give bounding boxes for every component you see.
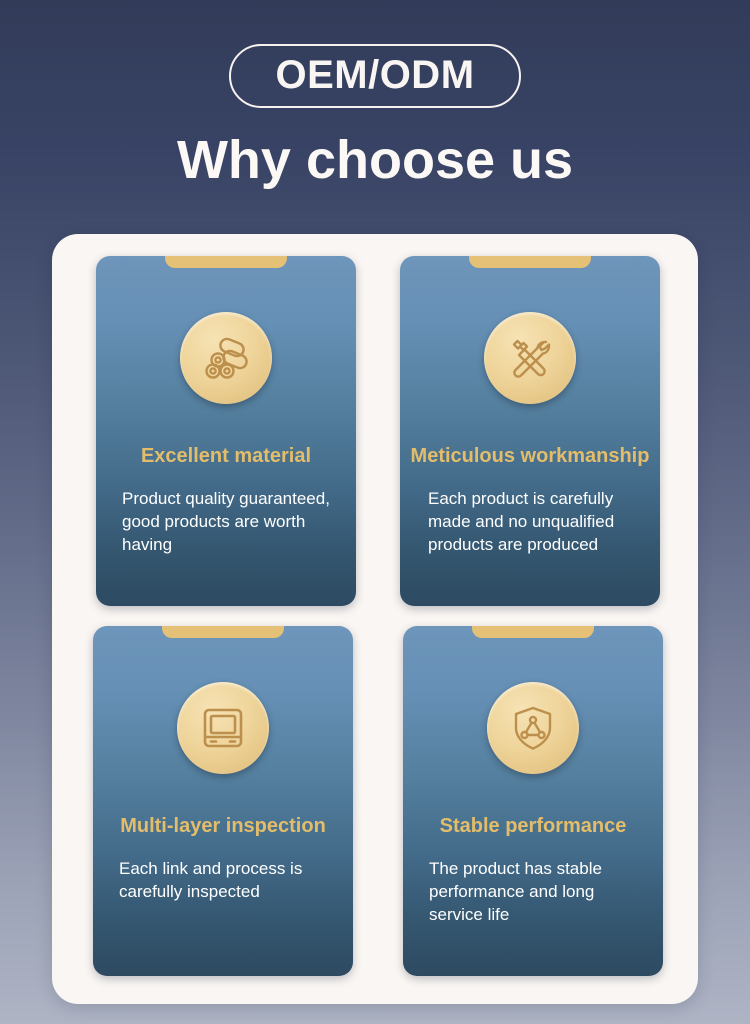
hammer-wrench-icon	[484, 312, 576, 404]
feature-card-meticulous-workmanship[interactable]: Meticulous workmanship Each product is c…	[400, 256, 660, 606]
card-title: Meticulous workmanship	[400, 444, 660, 468]
oem-odm-badge: OEM/ODM	[229, 44, 520, 108]
shield-network-icon	[487, 682, 579, 774]
card-body-text: Product quality guaranteed, good product…	[122, 488, 334, 557]
page-header: OEM/ODM Why choose us	[0, 0, 750, 189]
card-body-text: The product has stable performance and l…	[429, 858, 645, 927]
stacked-rolls-icon	[180, 312, 272, 404]
feature-card-stable-performance[interactable]: Stable performance The product has stabl…	[403, 626, 663, 976]
card-title: Excellent material	[96, 444, 356, 468]
card-title: Stable performance	[403, 814, 663, 838]
card-body-text: Each link and process is carefully inspe…	[119, 858, 331, 904]
features-panel: Excellent material Product quality guara…	[52, 234, 698, 1004]
features-grid: Excellent material Product quality guara…	[52, 234, 698, 1004]
card-body-text: Each product is carefully made and no un…	[428, 488, 638, 557]
monitor-inspection-icon	[177, 682, 269, 774]
card-title: Multi-layer inspection	[93, 814, 353, 838]
feature-card-excellent-material[interactable]: Excellent material Product quality guara…	[96, 256, 356, 606]
feature-card-multi-layer-inspection[interactable]: Multi-layer inspection Each link and pro…	[93, 626, 353, 976]
page-title: Why choose us	[0, 132, 750, 189]
